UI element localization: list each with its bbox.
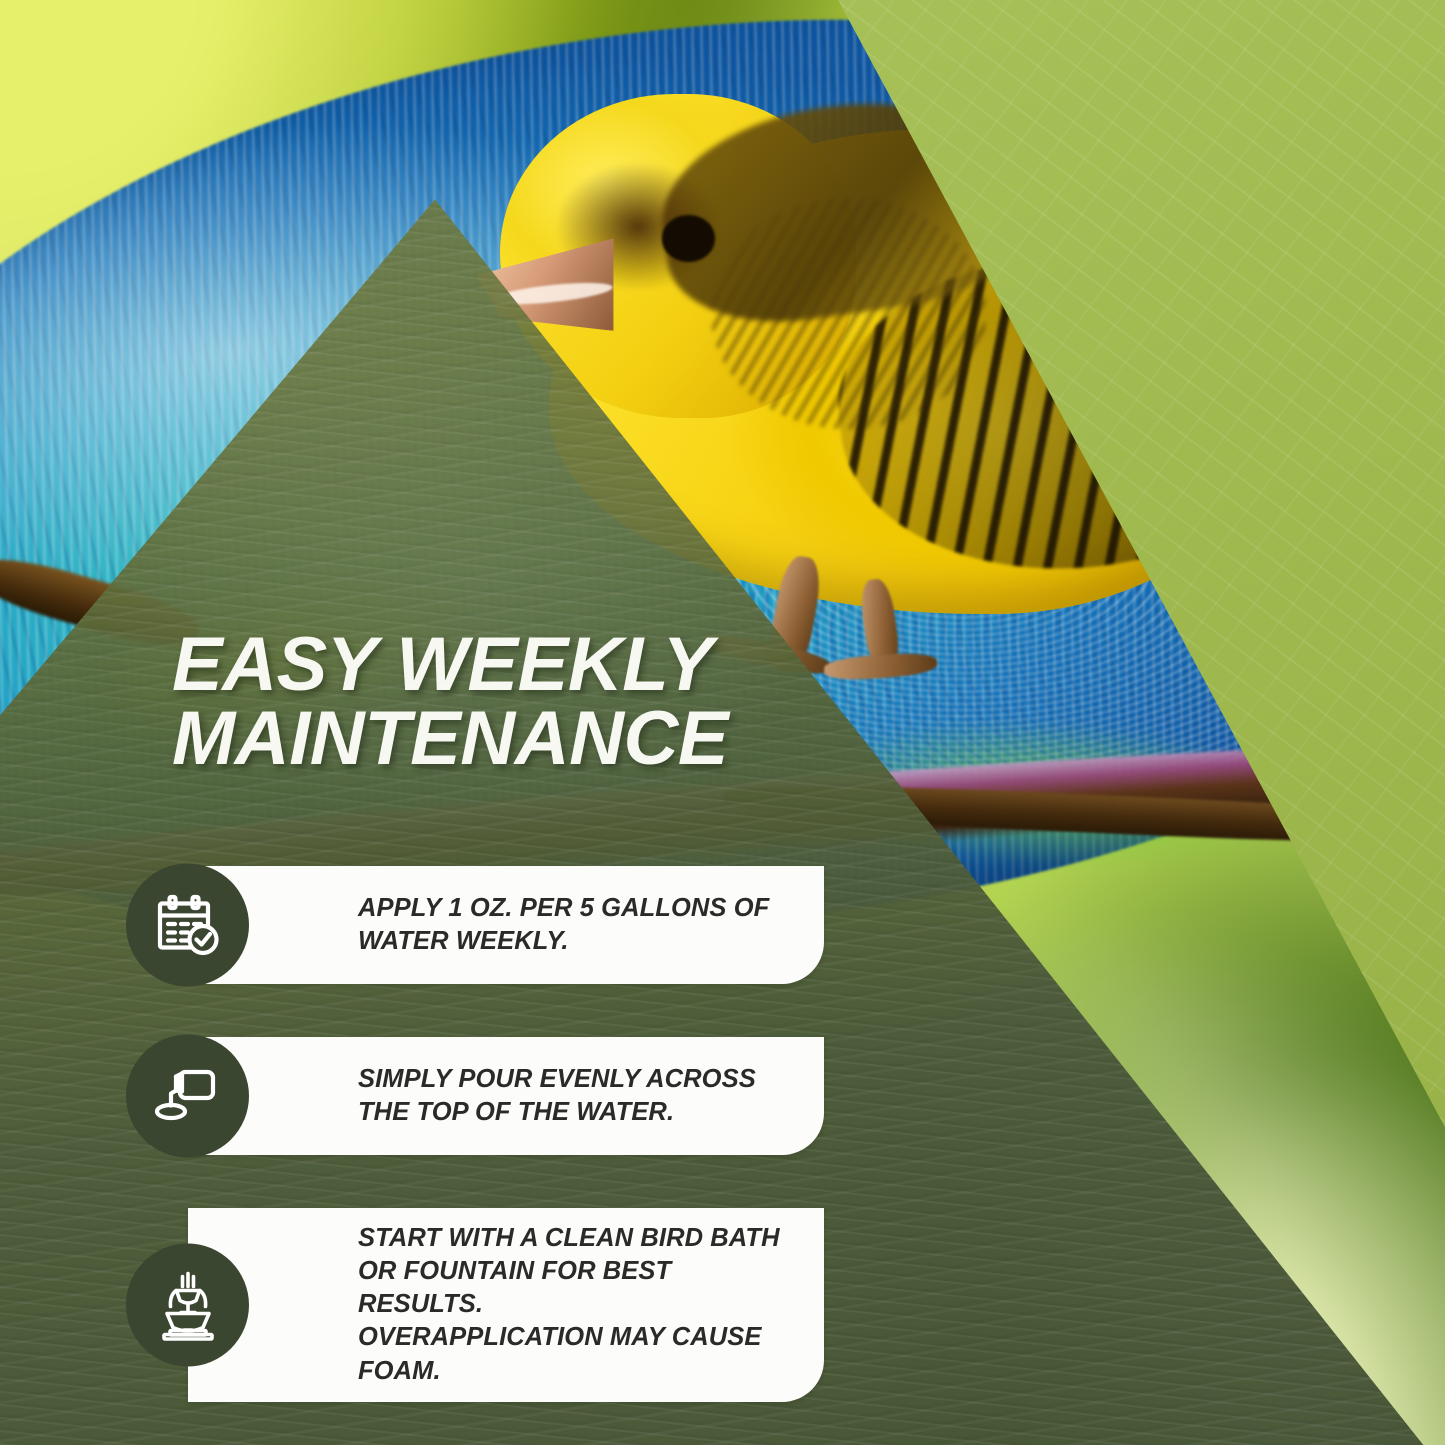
calendar-check-icon [126,864,249,987]
fountain-icon [126,1243,249,1366]
instruction-text: START WITH A CLEAN BIRD BATH OR FOUNTAIN… [358,1222,784,1388]
instruction-panel: START WITH A CLEAN BIRD BATH OR FOUNTAIN… [188,1208,824,1402]
instruction-list: APPLY 1 OZ. PER 5 GALLONS OF WATER WEEKL… [126,866,836,1402]
infographic-card: EASY WEEKLY MAINTENANCE [0,0,1445,1445]
instruction-text: SIMPLY POUR EVENLY ACROSS THE TOP OF THE… [358,1063,756,1129]
headline-line-1: EASY WEEKLY [172,628,892,702]
content-layer: EASY WEEKLY MAINTENANCE [0,0,1445,1445]
instruction-panel: SIMPLY POUR EVENLY ACROSS THE TOP OF THE… [188,1037,824,1155]
pouring-bottle-icon [126,1035,249,1158]
headline-line-2: MAINTENANCE [172,702,892,776]
page-title: EASY WEEKLY MAINTENANCE [172,628,892,777]
list-item: START WITH A CLEAN BIRD BATH OR FOUNTAIN… [126,1208,836,1402]
list-item: APPLY 1 OZ. PER 5 GALLONS OF WATER WEEKL… [126,866,836,984]
instruction-text: APPLY 1 OZ. PER 5 GALLONS OF WATER WEEKL… [358,892,769,958]
instruction-panel: APPLY 1 OZ. PER 5 GALLONS OF WATER WEEKL… [188,866,824,984]
list-item: SIMPLY POUR EVENLY ACROSS THE TOP OF THE… [126,1037,836,1155]
